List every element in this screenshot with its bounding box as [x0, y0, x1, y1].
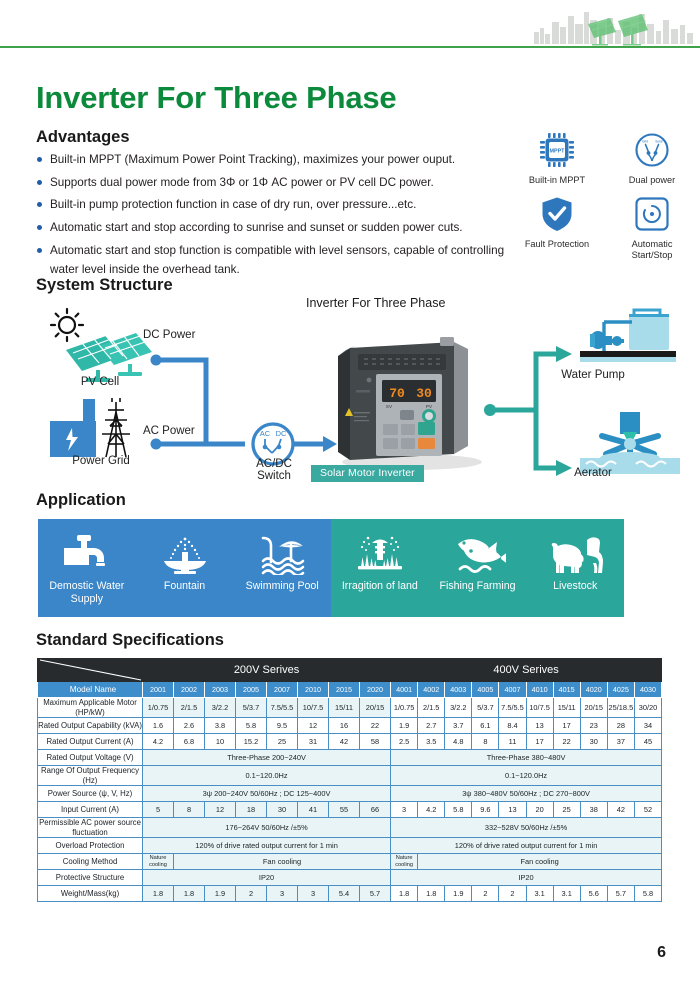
feature-label: Dual power — [612, 175, 692, 186]
auto-start-stop-icon — [612, 192, 692, 236]
table-cell: 45 — [634, 734, 661, 750]
table-cell: 2 — [236, 886, 267, 902]
table-cell: 12 — [205, 802, 236, 818]
table-cell: 31 — [298, 734, 329, 750]
table-row: Power Source (ψ, V, Hz)3ψ 200~240V 50/60… — [38, 786, 662, 802]
table-cell: 4.2 — [143, 734, 174, 750]
table-cell: IP20 — [391, 870, 662, 886]
table-cell: 3.1 — [553, 886, 580, 902]
table-cell: 10 — [205, 734, 236, 750]
table-cell: 9.6 — [472, 802, 499, 818]
table-cell: 0.1~120.0Hz — [143, 766, 391, 786]
table-cell: IP20 — [143, 870, 391, 886]
table-cell: Nature cooling — [143, 854, 174, 870]
row-label: Weight/Mass(kg) — [38, 886, 143, 902]
table-cell: 2/1.5 — [418, 698, 445, 718]
table-cell: 7.5/5.5 — [267, 698, 298, 718]
table-cell: 13 — [499, 802, 526, 818]
table-cell: 30 — [580, 734, 607, 750]
table-cell: 37 — [607, 734, 634, 750]
table-cell: 3.1 — [526, 886, 553, 902]
table-cell: 3 — [267, 886, 298, 902]
svg-text:DC: DC — [276, 429, 287, 438]
table-cell: 176~264V 50/60Hz /±5% — [143, 818, 391, 838]
table-row: Protective StructureIP20IP20 — [38, 870, 662, 886]
page-title: Inverter For Three Phase — [36, 80, 396, 116]
row-label: Maximum Applicable Motor (HP/kW) — [38, 698, 143, 718]
table-cell: 20 — [526, 802, 553, 818]
table-cell: 15.2 — [236, 734, 267, 750]
table-cell: 17 — [526, 734, 553, 750]
row-label: Rated Output Voltage (V) — [38, 750, 143, 766]
list-item: Supports dual power mode from 3Φ or 1Φ A… — [36, 173, 506, 193]
table-cell: 2.6 — [174, 718, 205, 734]
table-cell: 8 — [174, 802, 205, 818]
table-header-model-row: Model Name 2001 2002 2003 2005 2007 2010… — [38, 682, 662, 698]
table-cell: 0.1~120.0Hz — [391, 766, 662, 786]
feature-dual-power: Grid Solar Dual power — [612, 128, 692, 186]
model-cell: 4010 — [526, 682, 553, 698]
aerator-icon — [580, 412, 680, 474]
page-number: 6 — [657, 944, 666, 962]
table-cell: 8.4 — [499, 718, 526, 734]
diagram-label-water-pump: Water Pump — [545, 369, 641, 381]
table-cell: 5.8 — [236, 718, 267, 734]
table-cell: 3 — [391, 802, 418, 818]
table-cell: 28 — [607, 718, 634, 734]
inverter-device-image: 70 30 SV PV — [338, 337, 482, 470]
row-label: Rated Output Capability (kVA) — [38, 718, 143, 734]
table-cell: 58 — [360, 734, 391, 750]
table-row: Maximum Applicable Motor (HP/kW)1/0.752/… — [38, 698, 662, 718]
model-cell: 4002 — [418, 682, 445, 698]
table-cell: 2 — [499, 886, 526, 902]
row-label: Input Current (A) — [38, 802, 143, 818]
table-cell: 1.9 — [205, 886, 236, 902]
application-label: Swimming Pool — [244, 580, 321, 593]
application-item-fishing-farming: Fishing Farming — [429, 519, 527, 617]
model-cell: 4007 — [499, 682, 526, 698]
table-cell: 22 — [553, 734, 580, 750]
application-item-fountain: Fountain — [136, 519, 234, 617]
svg-text:70: 70 — [389, 386, 405, 401]
table-cell: 13 — [526, 718, 553, 734]
diagram-label-power-grid: Power Grid — [56, 455, 146, 467]
table-cell: 42 — [329, 734, 360, 750]
table-cell: 42 — [607, 802, 634, 818]
table-cell: 3.7 — [445, 718, 472, 734]
feature-built-in-mppt: MPPT Built-in MPPT — [518, 128, 596, 186]
table-cell: 41 — [298, 802, 329, 818]
application-item-domestic-water-supply: Demostic Water Supply — [38, 519, 136, 617]
page-header-band — [0, 0, 700, 54]
fish-icon — [450, 529, 506, 579]
feature-label: Built-in MPPT — [518, 175, 596, 186]
chip-mppt-icon: MPPT — [518, 128, 596, 172]
table-cell: 18 — [236, 802, 267, 818]
pv-cell-icon — [51, 309, 152, 382]
table-cell: Nature cooling — [391, 854, 418, 870]
application-item-swimming-pool: Swimming Pool — [233, 519, 331, 617]
table-cell: 9.5 — [267, 718, 298, 734]
table-cell: 3.5 — [418, 734, 445, 750]
table-cell: 1.8 — [174, 886, 205, 902]
diagram-label-ac-dc-switch: AC/DC Switch — [238, 458, 310, 482]
advantages-heading: Advantages — [36, 128, 130, 147]
table-cell: 5.7 — [607, 886, 634, 902]
table-cell: 1.8 — [391, 886, 418, 902]
header-corner-diagonal — [38, 659, 143, 682]
header-400v-series: 400V Serives — [391, 659, 662, 682]
advantages-list: Built-in MPPT (Maximum Power Point Track… — [36, 150, 506, 283]
diagram-connectors: AC DC — [151, 355, 338, 465]
svg-text:PV: PV — [426, 404, 433, 409]
table-cell: 5.6 — [580, 886, 607, 902]
livestock-icon — [547, 529, 603, 579]
table-cell: 1.6 — [143, 718, 174, 734]
model-cell: 2005 — [236, 682, 267, 698]
table-cell: 5.7 — [360, 886, 391, 902]
table-cell: 2 — [472, 886, 499, 902]
table-cell: 15/11 — [553, 698, 580, 718]
table-cell: 17 — [553, 718, 580, 734]
table-cell: 3/2.2 — [205, 698, 236, 718]
table-cell: 5.8 — [445, 802, 472, 818]
table-cell: 1.8 — [418, 886, 445, 902]
table-body: Maximum Applicable Motor (HP/kW)1/0.752/… — [38, 698, 662, 902]
table-cell: 11 — [499, 734, 526, 750]
model-cell: 4025 — [607, 682, 634, 698]
svg-text:Solar: Solar — [655, 140, 663, 144]
table-cell: 15/11 — [329, 698, 360, 718]
solar-motor-inverter-badge: Solar Motor Inverter — [311, 465, 424, 482]
table-header-series-row: 200V Serives 400V Serives — [38, 659, 662, 682]
table-cell: 55 — [329, 802, 360, 818]
table-cell: 52 — [634, 802, 661, 818]
application-item-livestock: Livestock — [526, 519, 624, 617]
svg-text:30: 30 — [416, 386, 432, 401]
application-label: Demostic Water Supply — [38, 580, 136, 605]
table-cell: 120% of drive rated output current for 1… — [391, 838, 662, 854]
model-cell: 4003 — [445, 682, 472, 698]
table-cell: 8 — [472, 734, 499, 750]
table-row: Rated Output Current (A)4.26.81015.22531… — [38, 734, 662, 750]
row-label: Range Of Output Frequency (Hz) — [38, 766, 143, 786]
model-cell: 4005 — [472, 682, 499, 698]
table-cell: 3/2.2 — [445, 698, 472, 718]
table-cell: 23 — [580, 718, 607, 734]
fountain-icon — [158, 529, 212, 579]
table-cell: 25 — [553, 802, 580, 818]
list-item: Automatic start and stop according to su… — [36, 218, 506, 238]
table-cell: 1.9 — [445, 886, 472, 902]
model-cell: 4001 — [391, 682, 418, 698]
model-cell: 2010 — [298, 682, 329, 698]
table-row: Rated Output Capability (kVA)1.62.63.85.… — [38, 718, 662, 734]
table-cell: 22 — [360, 718, 391, 734]
row-label: Permissible AC power source fluctuation — [38, 818, 143, 838]
feature-fault-protection: Fault Protection — [518, 192, 596, 261]
table-cell: 34 — [634, 718, 661, 734]
feature-label: AutomaticStart/Stop — [612, 239, 692, 261]
table-cell: Fan cooling — [174, 854, 391, 870]
application-item-irrigation-of-land: Irragition of land — [331, 519, 429, 617]
feature-icon-grid: MPPT Built-in MPPT Grid Solar Dual power — [518, 128, 693, 261]
table-row: Rated Output Voltage (V)Three-Phase 200~… — [38, 750, 662, 766]
table-cell: 120% of drive rated output current for 1… — [143, 838, 391, 854]
table-row: Cooling MethodNature coolingFan coolingN… — [38, 854, 662, 870]
model-cell: 2015 — [329, 682, 360, 698]
table-cell: 2.5 — [391, 734, 418, 750]
table-cell: 30/20 — [634, 698, 661, 718]
standard-specifications-table: 200V Serives 400V Serives Model Name 200… — [37, 658, 662, 902]
list-item: Built-in MPPT (Maximum Power Point Track… — [36, 150, 506, 170]
table-cell: 5.8 — [634, 886, 661, 902]
table-cell: 7.5/5.5 — [499, 698, 526, 718]
table-cell: 5/3.7 — [472, 698, 499, 718]
power-grid-icon — [50, 398, 130, 457]
row-label: Rated Output Current (A) — [38, 734, 143, 750]
header-model-name: Model Name — [38, 682, 143, 698]
table-cell: 25/18.5 — [607, 698, 634, 718]
table-cell: 3 — [298, 886, 329, 902]
faucet-icon — [60, 529, 114, 579]
row-label: Protective Structure — [38, 870, 143, 886]
table-cell: 20/15 — [580, 698, 607, 718]
application-label: Irragition of land — [340, 580, 420, 593]
table-cell: 38 — [580, 802, 607, 818]
table-cell: 10/7.5 — [526, 698, 553, 718]
model-cell: 2007 — [267, 682, 298, 698]
table-row: Input Current (A)5812183041556634.25.89.… — [38, 802, 662, 818]
table-cell: 25 — [267, 734, 298, 750]
table-cell: 66 — [360, 802, 391, 818]
table-cell: 5/3.7 — [236, 698, 267, 718]
swimming-pool-icon — [255, 529, 309, 579]
table-cell: 16 — [329, 718, 360, 734]
table-cell: 4.2 — [418, 802, 445, 818]
svg-text:MPPT: MPPT — [550, 149, 566, 155]
table-cell: 3ψ 200~240V 50/60Hz ; DC 125~400V — [143, 786, 391, 802]
model-cell: 2020 — [360, 682, 391, 698]
table-cell: 3ψ 380~480V 50/60Hz ; DC 270~800V — [391, 786, 662, 802]
row-label: Power Source (ψ, V, Hz) — [38, 786, 143, 802]
table-cell: 3.8 — [205, 718, 236, 734]
table-row: Range Of Output Frequency (Hz)0.1~120.0H… — [38, 766, 662, 786]
table-cell: 2/1.5 — [174, 698, 205, 718]
dual-power-gauge-icon: Grid Solar — [612, 128, 692, 172]
application-label: Fountain — [162, 580, 207, 593]
table-cell: 5.4 — [329, 886, 360, 902]
list-item: Built-in pump protection function in cas… — [36, 195, 506, 215]
model-cell: 4020 — [580, 682, 607, 698]
table-cell: 1.9 — [391, 718, 418, 734]
table-cell: 332~528V 50/60Hz /±5% — [391, 818, 662, 838]
svg-text:SV: SV — [386, 404, 393, 409]
model-cell: 2002 — [174, 682, 205, 698]
feature-label: Fault Protection — [518, 239, 596, 250]
model-cell: 2001 — [143, 682, 174, 698]
table-cell: Fan cooling — [418, 854, 662, 870]
diagram-label-pv-cell: PV Cell — [60, 376, 140, 388]
table-cell: 5 — [143, 802, 174, 818]
feature-automatic-start-stop: AutomaticStart/Stop — [612, 192, 692, 261]
table-row: Weight/Mass(kg)1.81.81.92335.45.71.81.81… — [38, 886, 662, 902]
row-label: Overload Protection — [38, 838, 143, 854]
diagram-label-aerator: Aerator — [548, 467, 638, 479]
table-cell: 1.8 — [143, 886, 174, 902]
list-item: Automatic start and stop function is com… — [36, 241, 506, 280]
table-cell: 6.8 — [174, 734, 205, 750]
model-cell: 4030 — [634, 682, 661, 698]
diagram-label-ac-power: AC Power — [143, 425, 213, 437]
table-cell: 12 — [298, 718, 329, 734]
water-pump-icon — [580, 310, 676, 362]
table-cell: 20/15 — [360, 698, 391, 718]
diagram-label-dc-power: DC Power — [143, 329, 213, 341]
application-label: Fishing Farming — [438, 580, 518, 593]
table-cell: 4.8 — [445, 734, 472, 750]
table-cell: 6.1 — [472, 718, 499, 734]
svg-text:AC: AC — [260, 429, 271, 438]
specifications-heading: Standard Specifications — [36, 631, 224, 650]
solar-skyline-decoration — [530, 4, 700, 46]
application-heading: Application — [36, 491, 126, 510]
table-cell: Three-Phase 380~480V — [391, 750, 662, 766]
irrigation-sprinkler-icon — [353, 529, 407, 579]
table-row: Permissible AC power source fluctuation1… — [38, 818, 662, 838]
model-cell: 4015 — [553, 682, 580, 698]
svg-text:Grid: Grid — [642, 140, 648, 144]
table-cell: 2.7 — [418, 718, 445, 734]
table-cell: 10/7.5 — [298, 698, 329, 718]
table-cell: 1/0.75 — [143, 698, 174, 718]
application-label: Livestock — [551, 580, 599, 593]
row-label: Cooling Method — [38, 854, 143, 870]
shield-check-icon — [518, 192, 596, 236]
table-cell: Three-Phase 200~240V — [143, 750, 391, 766]
table-cell: 1/0.75 — [391, 698, 418, 718]
table-cell: 30 — [267, 802, 298, 818]
model-cell: 2003 — [205, 682, 236, 698]
header-green-rule — [0, 46, 700, 48]
application-icon-bar: Demostic Water Supply Fountain — [38, 519, 624, 617]
system-structure-heading: System Structure — [36, 276, 173, 295]
table-row: Overload Protection120% of drive rated o… — [38, 838, 662, 854]
output-connectors — [484, 346, 572, 476]
header-200v-series: 200V Serives — [143, 659, 391, 682]
